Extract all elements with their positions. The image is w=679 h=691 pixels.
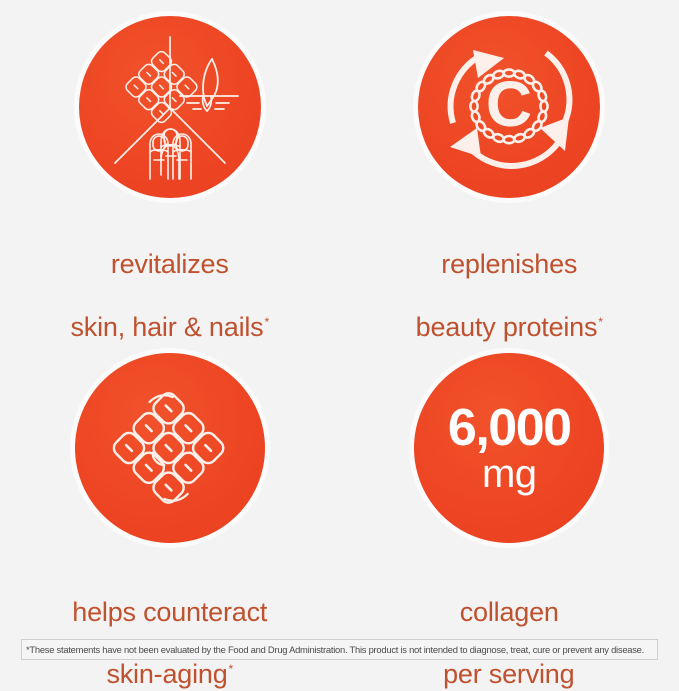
benefit-caption-counteract-aging: helps counteract skin-aging* [72,565,267,690]
letter-c-glyph: C [486,68,532,140]
skin-cell-matrix-icon [75,353,265,543]
caption-line-2: skin, hair & nails [70,312,263,342]
benefits-grid: revitalizes skin, hair & nails* [0,0,679,625]
benefit-caption-dosage: collagen per serving [443,565,575,690]
skin-hair-nails-badge [79,16,261,198]
benefit-caption-replenishes: replenishes beauty proteins* [416,218,603,343]
caption-line-1: collagen [460,597,559,627]
fda-disclaimer-box: *These statements have not been evaluate… [21,639,658,660]
skin-cell-matrix-badge [75,353,265,543]
dosage-amount: 6,000 [448,404,571,453]
footnote-marker: * [598,315,603,329]
caption-line-1: helps counteract [72,597,267,627]
skin-hair-nails-icon [79,16,261,198]
collagen-cycle-c-icon: C [418,16,600,198]
caption-line-2: beauty proteins [416,312,598,342]
caption-line-2: skin-aging [106,659,227,689]
caption-line-2: per serving [443,659,574,689]
benefit-caption-revitalizes: revitalizes skin, hair & nails* [70,218,269,343]
fda-disclaimer-text: *These statements have not been evaluate… [26,644,644,655]
footnote-marker: * [229,662,234,676]
footnote-marker: * [264,315,269,329]
benefit-card-replenishes: C replenishes beauty proteins* [340,0,679,343]
dosage-text-badge: 6,000 mg [448,404,571,493]
dosage-unit: mg [448,455,571,493]
caption-line-1: revitalizes [111,249,229,279]
caption-line-1: replenishes [441,249,577,279]
dosage-badge: 6,000 mg [414,353,604,543]
collagen-cycle-badge: C [418,16,600,198]
benefit-card-revitalizes: revitalizes skin, hair & nails* [0,0,340,343]
